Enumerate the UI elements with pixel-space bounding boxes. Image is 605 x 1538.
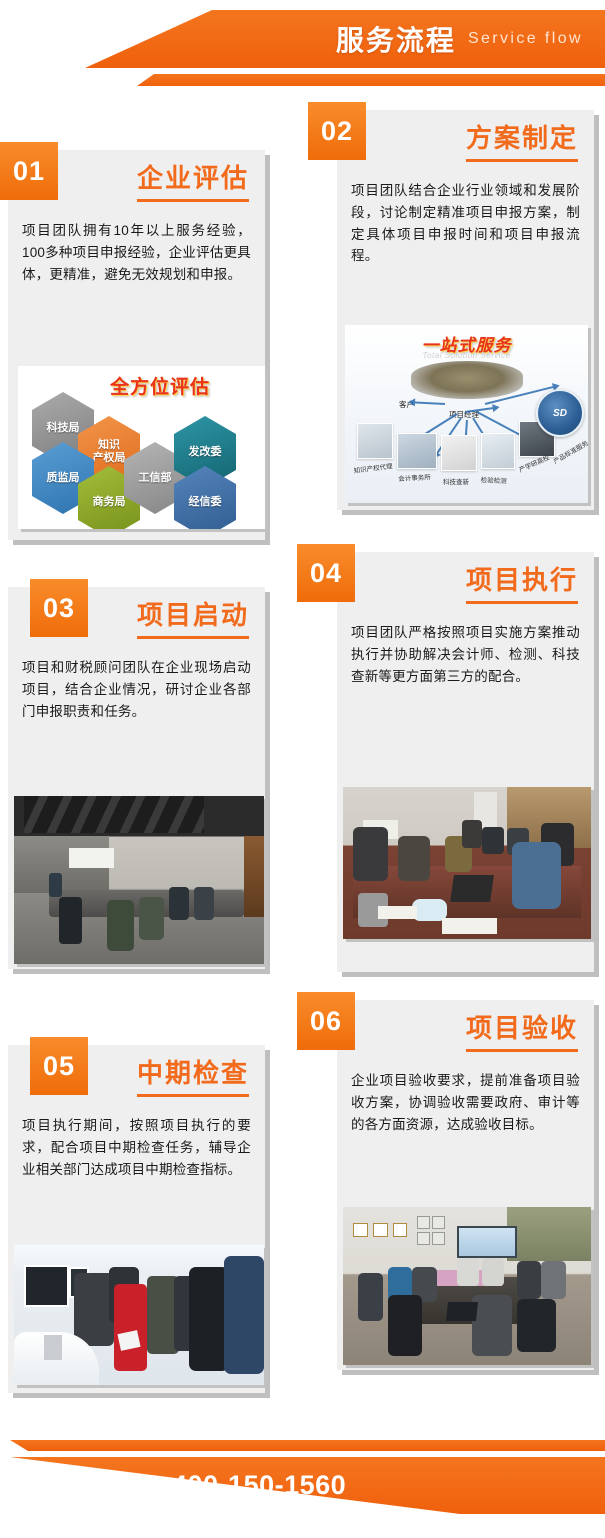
photo-person [398,836,430,882]
photo-wood-panel [244,836,264,917]
photo-person [74,1273,114,1346]
photo-chair [388,1295,423,1355]
photo-person [59,897,82,944]
one-stop-service-diagram: 一站式服务 Total Solution Service 客户 项目经理 知识产… [345,325,588,503]
photo-laptops-meeting [343,787,591,939]
photo-person [49,873,62,897]
step-title-06: 项目验收 [466,1014,578,1052]
page-footer: 全国统一热线： 400-150-1560 [0,1418,605,1538]
oss-thumb-2 [397,433,437,469]
hex-node-label: 质监局 [47,472,80,485]
photo-meeting-room [14,796,264,964]
step-badge-02: 02 [308,102,366,160]
oss-arrow-1 [413,401,445,405]
oss-caption-3: 科技查新 [443,476,469,486]
hex-node-label: 经信委 [189,496,222,509]
photo-person [107,900,135,950]
page-subtitle: Service flow [468,30,583,48]
photo-person-foreground [224,1256,264,1374]
photo-frame [432,1232,444,1245]
photo-person [169,887,189,921]
step-body-01: 项目团队拥有10年以上服务经验，100多种项目申报经验，企业评估更具体，更精准，… [8,220,265,286]
step-title-02: 方案制定 [466,124,578,162]
step-media-04 [343,787,591,939]
hex-node-label: 发改委 [189,446,222,459]
photo-certificate [393,1223,408,1237]
footer-hotline-group: 全国统一热线： 400-150-1560 [0,1457,605,1514]
photo-certificate [353,1223,368,1237]
photo-laptop [446,1302,478,1321]
footer-hotline-number[interactable]: 400-150-1560 [172,1470,346,1501]
step-body-06: 企业项目验收要求，提前准备项目验收方案，协调验收需要政府、审计等的各方面资源，达… [337,1070,594,1136]
photo-person [517,1261,542,1299]
oss-caption-6: 产品标准服务 [551,438,588,466]
photo-display-item [44,1335,62,1360]
photo-laptop [450,875,494,902]
step-title-01: 企业评估 [137,164,249,202]
footer-thin-stripe-shape [10,1440,605,1451]
oss-title-en: Total Solution Service [422,351,510,360]
hex-node-label: 知识 产权局 [93,439,126,464]
hexagon-chart-title: 全方位评估 [110,372,210,399]
step-badge-06: 06 [297,992,355,1050]
photo-conference-presentation [343,1207,591,1365]
photo-ceiling-grid [24,796,204,833]
photo-frame [432,1216,444,1229]
step-media-01: 全方位评估 科技局 知识 产权局 质监局 商务局 工信部 发改委 经信委 [18,366,265,529]
step-body-02: 项目团队结合企业行业领域和发展阶段，讨论制定精准项目申报方案，制定具体项目申报时… [337,180,594,267]
step-media-02: 一站式服务 Total Solution Service 客户 项目经理 知识产… [345,325,588,503]
photo-projection-screen [457,1226,517,1258]
photo-person [457,1258,479,1286]
photo-showroom-tour [14,1245,264,1385]
step-media-06 [343,1207,591,1365]
photo-frame [417,1232,429,1245]
oss-caption-2: 会计事务所 [398,471,431,483]
step-media-03 [14,796,264,964]
service-flow-poster: 服务流程 Service flow 01 企业评估 项目团队拥有10年以上服务经… [0,0,605,1538]
step-title-03: 项目启动 [137,601,249,639]
step-badge-03: 03 [30,579,88,637]
hexagon-chart: 全方位评估 科技局 知识 产权局 质监局 商务局 工信部 发改委 经信委 [18,366,265,529]
header-banner-underline-shape [0,74,605,86]
photo-papers [378,906,418,920]
photo-certificate [373,1223,388,1237]
photo-person [462,820,482,847]
step-media-05 [14,1245,264,1385]
photo-chair [517,1299,557,1353]
step-badge-04: 04 [297,544,355,602]
step-title-04: 项目执行 [466,566,578,604]
step-head-06: 项目验收 [337,1000,594,1052]
photo-papers [442,918,497,935]
oss-thumb-3 [441,435,477,471]
photo-wall-green [507,1207,591,1261]
photo-person [139,897,164,941]
photo-person-red-coat [114,1284,147,1371]
photo-person [482,1258,504,1286]
photo-person-foreground [472,1295,512,1355]
footer-hotline-label: 全国统一热线： [56,1475,168,1496]
photo-person [482,827,504,854]
photo-frame [417,1216,429,1229]
step-badge-05: 05 [30,1037,88,1095]
photo-monitor [24,1265,69,1307]
step-head-04: 项目执行 [337,552,594,604]
oss-thumb-1 [357,423,393,459]
oss-certification-seal-icon: SD [536,389,584,437]
oss-caption-1: 知识产权代理 [353,460,393,475]
step-title-05: 中期检查 [137,1059,249,1097]
oss-thumb-4 [481,433,515,469]
step-body-04: 项目团队严格按照项目实施方案推动执行并协助解决会计师、检测、科技查新等更方面第三… [337,622,594,688]
hex-node-label: 商务局 [93,496,126,509]
photo-person [189,1267,229,1371]
step-head-02: 方案制定 [337,110,594,162]
oss-caption-4: 检验检测 [480,474,506,485]
photo-person [541,1261,566,1299]
photo-whiteboard [69,848,114,868]
photo-person [358,1273,383,1320]
photo-person-foreground [512,842,562,909]
step-body-03: 项目和财税顾问团队在企业现场启动项目，结合企业情况，研讨企业各部门申报职责和任务… [8,657,265,723]
step-badge-01: 01 [0,142,58,200]
page-title: 服务流程 [336,19,456,59]
page-header: 服务流程 Service flow [0,0,605,110]
header-title-group: 服务流程 Service flow [0,10,605,68]
hex-node-label: 工信部 [139,472,172,485]
photo-person [194,887,214,921]
hex-node-label: 科技局 [47,422,80,435]
photo-person [353,827,388,882]
step-body-05: 项目执行期间，按照项目执行的要求，配合项目中期检查任务，辅导企业相关部门达成项目… [8,1115,265,1181]
oss-center-photo [411,361,523,399]
